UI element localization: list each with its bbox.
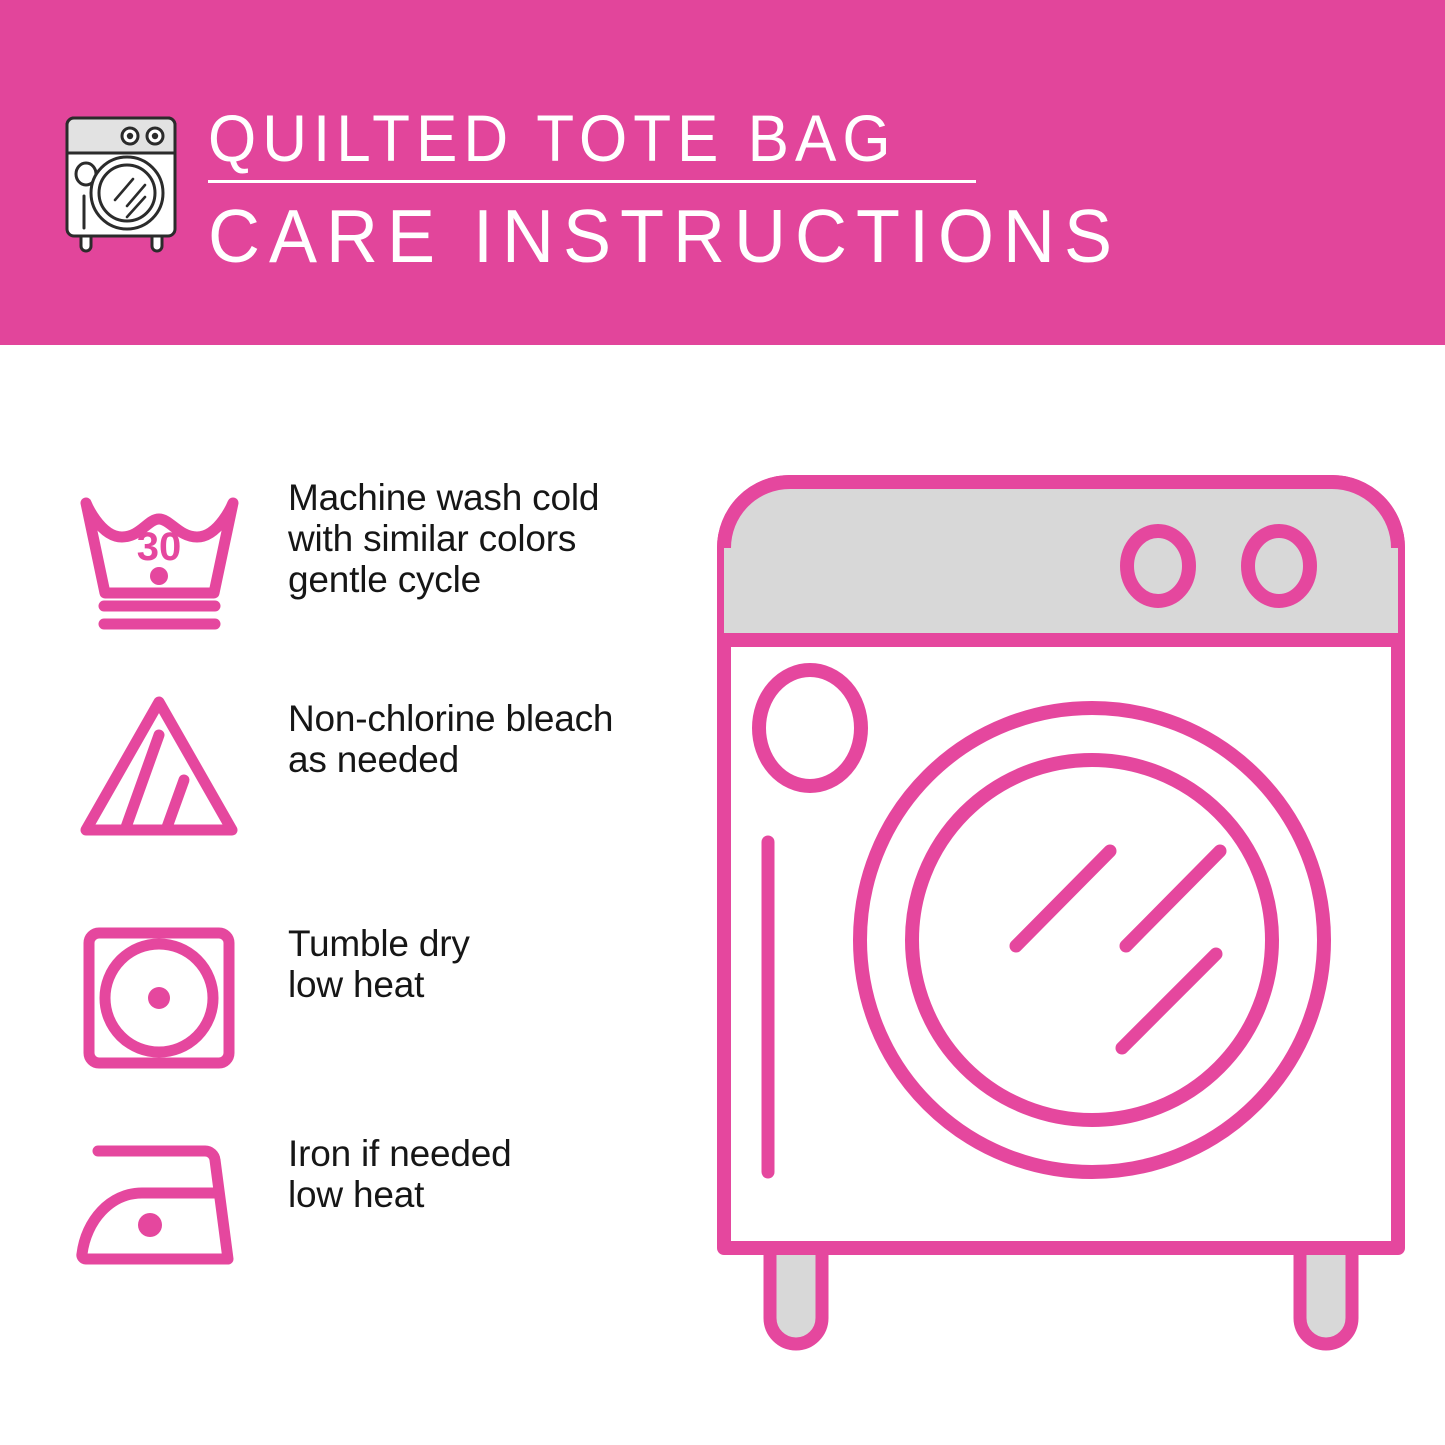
instruction-item-iron: Iron if needed low heat (0, 1125, 700, 1325)
machine-leg (770, 1248, 822, 1344)
header-text-block: QUILTED TOTE BAG CARE INSTRUCTIONS (208, 104, 998, 273)
iron-low-heat-icon (62, 1125, 257, 1290)
instruction-item-machine-wash: 30 Machine wash cold with similar colors… (0, 475, 700, 675)
instruction-item-tumble-dry: Tumble dry low heat (0, 915, 700, 1115)
washing-machine-icon (57, 100, 187, 250)
machine-leg (1300, 1248, 1352, 1344)
instruction-text: Machine wash cold with similar colors ge… (288, 477, 688, 600)
header-banner: QUILTED TOTE BAG CARE INSTRUCTIONS (0, 0, 1445, 345)
instruction-text: Tumble dry low heat (288, 923, 688, 1005)
page-subtitle: CARE INSTRUCTIONS (208, 197, 998, 277)
machine-wash-30-gentle-icon: 30 (62, 475, 257, 640)
instruction-item-bleach: Non-chlorine bleach as needed (0, 690, 700, 890)
care-instructions-page: QUILTED TOTE BAG CARE INSTRUCTIONS 30 Ma… (0, 0, 1445, 1445)
tumble-dry-low-icon (62, 915, 257, 1080)
page-title: QUILTED TOTE BAG (208, 104, 998, 176)
instruction-list: 30 Machine wash cold with similar colors… (0, 345, 700, 1445)
non-chlorine-bleach-icon (62, 690, 257, 855)
instruction-text: Iron if needed low heat (288, 1133, 688, 1215)
front-load-washing-machine-illustration (712, 470, 1412, 1370)
wash-temperature-value: 30 (137, 525, 182, 569)
header-divider (208, 180, 976, 183)
instruction-text: Non-chlorine bleach as needed (288, 698, 688, 780)
control-panel (724, 482, 1398, 640)
